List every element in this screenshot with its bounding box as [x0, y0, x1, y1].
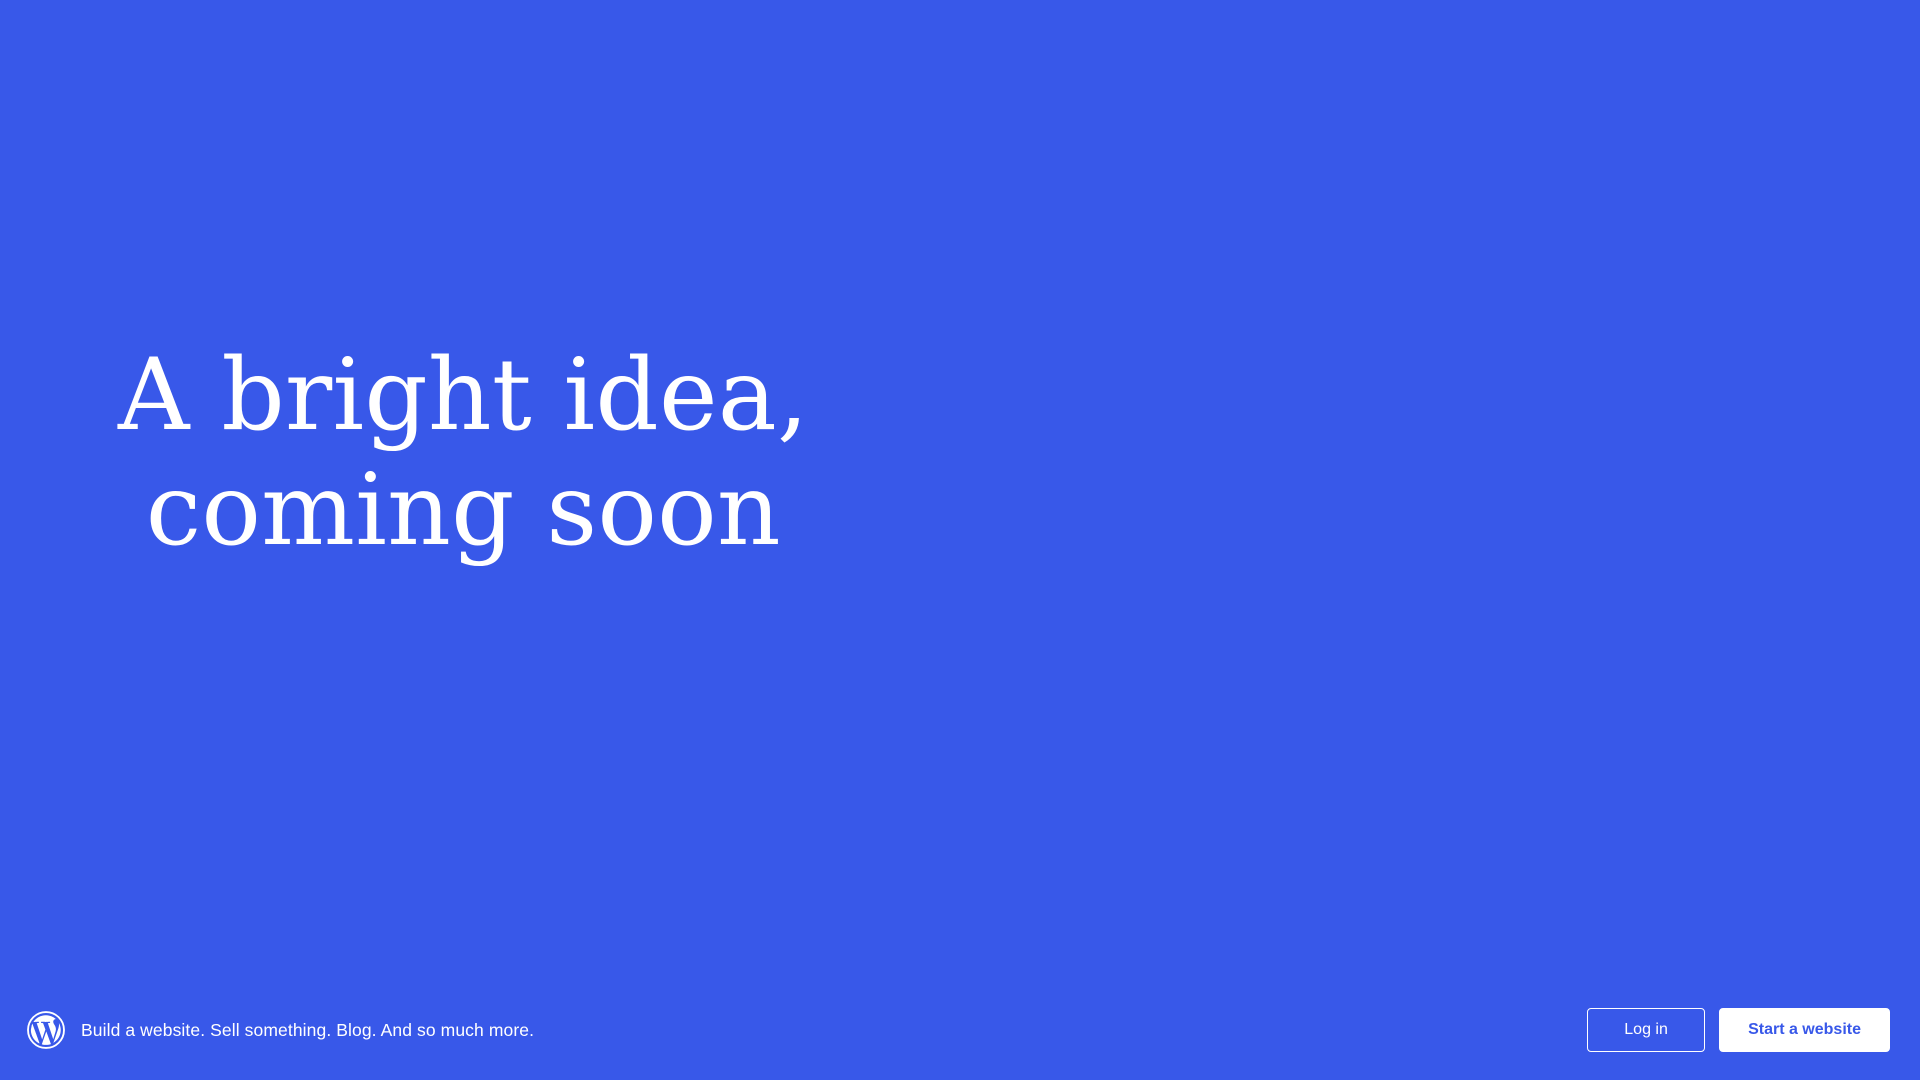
- footer-tagline: Build a website. Sell something. Blog. A…: [81, 1019, 534, 1042]
- footer-bar: Build a website. Sell something. Blog. A…: [0, 980, 1920, 1080]
- start-a-website-button[interactable]: Start a website: [1719, 1008, 1890, 1052]
- hero-section: A bright idea, coming soon: [0, 0, 1920, 980]
- headline-line-1: A bright idea,: [118, 339, 809, 454]
- coming-soon-page: A bright idea, coming soon Build a websi…: [0, 0, 1920, 1080]
- wordpress-logo-icon[interactable]: [27, 1011, 65, 1049]
- headline-line-2: coming soon: [118, 454, 809, 569]
- page-title: A bright idea, coming soon: [118, 339, 809, 569]
- footer-branding: Build a website. Sell something. Blog. A…: [27, 1011, 534, 1049]
- login-button[interactable]: Log in: [1587, 1008, 1705, 1052]
- footer-actions: Log in Start a website: [1587, 1008, 1890, 1052]
